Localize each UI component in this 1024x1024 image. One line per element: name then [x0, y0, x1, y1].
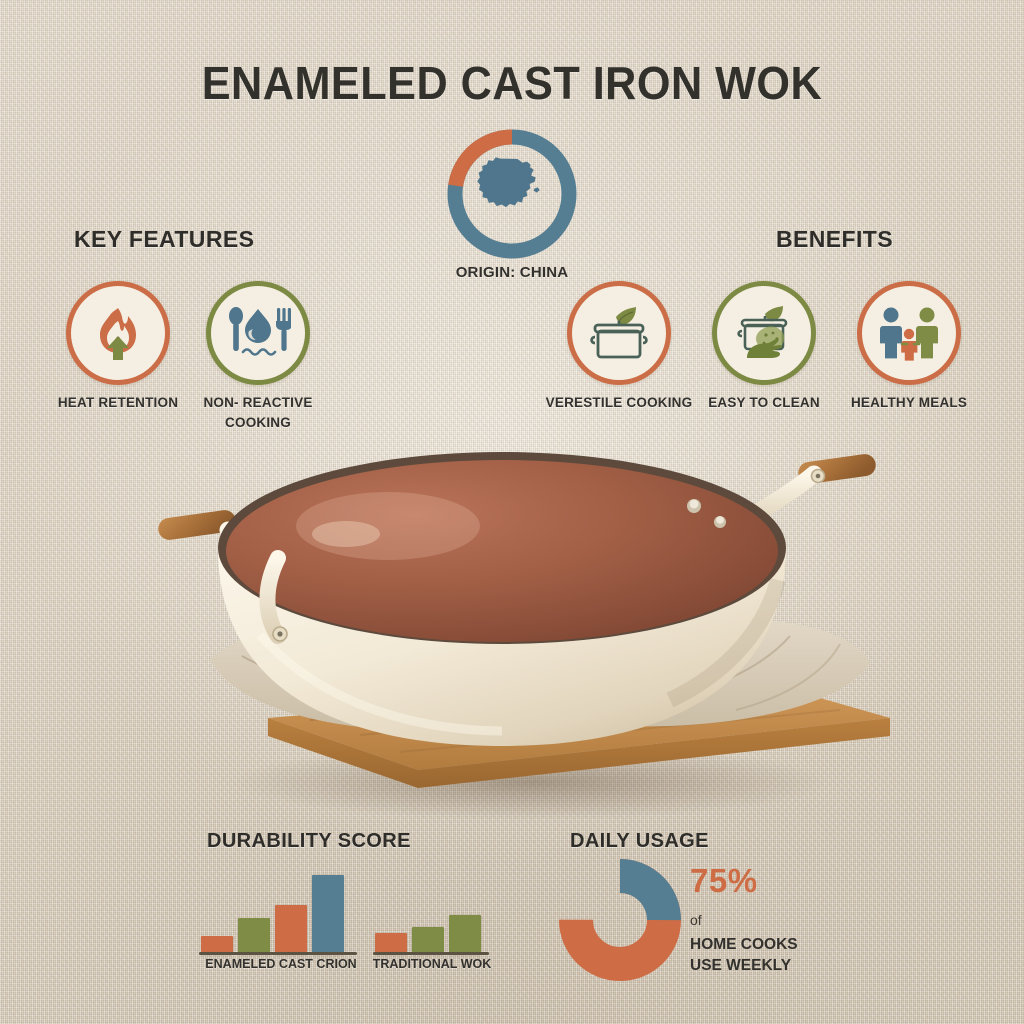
durability-bar-chart: ENAMELED CAST CRION TRADITIONAL WOK [195, 860, 505, 955]
axis-baseline [199, 952, 357, 955]
daily-usage-donut-chart [558, 858, 682, 982]
durability-chart-title: DURABILITY SCORE [207, 830, 411, 853]
feature-badge-non-reactive-cooking[interactable]: NON‑ REACTIVE COOKING [206, 281, 310, 385]
bar [312, 875, 344, 955]
family-icon [876, 302, 942, 364]
origin-donut-chart [438, 120, 586, 268]
benefits-heading: BENEFITS [776, 226, 893, 253]
axis-baseline [373, 952, 489, 955]
bar-group-label-enameled: ENAMELED CAST CRION [191, 957, 371, 971]
china-map-icon [477, 157, 539, 207]
feature-badge-heat-retention[interactable]: HEAT RETENTION [66, 281, 170, 385]
bar [412, 927, 444, 955]
feature-label: NON‑ REACTIVE COOKING [173, 393, 343, 432]
spoon-droplet-fork-icon [225, 302, 291, 364]
usage-caption-line2: USE WEEKLY [690, 957, 791, 975]
benefit-badge-versatile-cooking[interactable]: VERESTILE COOKING [567, 281, 671, 385]
hand-sponge-pot-icon [731, 302, 797, 364]
usage-caption-line1: HOME COOKS [690, 936, 798, 954]
bar [275, 905, 307, 955]
usage-of-word: of [690, 912, 702, 928]
bar [449, 915, 481, 955]
pot-with-leaf-icon [586, 302, 652, 364]
page-title: ENAMELED CAST IRON WOK [31, 56, 994, 110]
bar-group-traditional [375, 915, 481, 955]
bar-group-label-traditional: TRADITIONAL WOK [361, 957, 503, 971]
benefit-badge-easy-to-clean[interactable]: EASY TO CLEAN [712, 281, 816, 385]
flame-arrow-icon [87, 302, 149, 364]
origin-label: ORIGIN: CHINA [438, 264, 586, 281]
benefit-badge-healthy-meals[interactable]: HEALTHY MEALS [857, 281, 961, 385]
bar [238, 918, 270, 955]
benefit-label: HEALTHY MEALS [824, 393, 994, 413]
key-features-heading: KEY FEATURES [74, 226, 254, 253]
usage-percent-value: 75% [690, 862, 758, 900]
product-photo [150, 430, 890, 830]
usage-chart-title: DAILY USAGE [570, 830, 709, 853]
bar-group-enameled [201, 875, 344, 955]
